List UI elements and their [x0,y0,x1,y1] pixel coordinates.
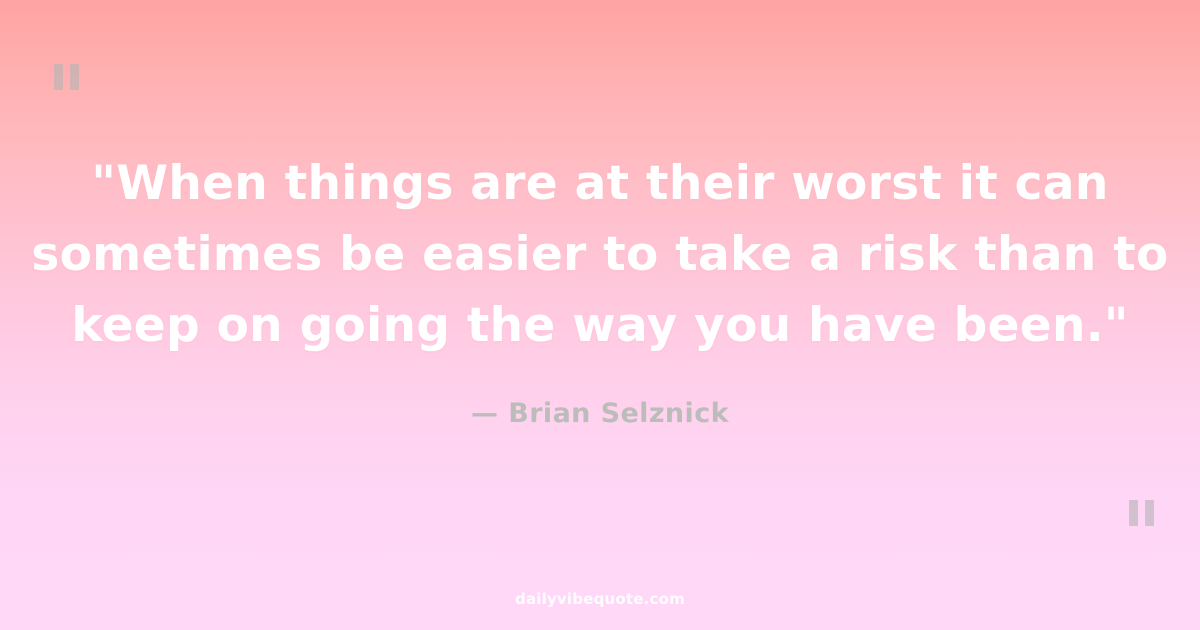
site-watermark: dailyvibequote.com [0,590,1200,608]
quote-mark-close-icon [1129,500,1154,526]
quote-mark-open-icon [54,64,79,90]
quote-author: — Brian Selznick [0,398,1200,429]
quote-mark-bar [1129,500,1138,526]
quote-text: "When things are at their worst it can s… [0,148,1200,361]
quote-mark-bar [70,64,79,90]
quote-mark-bar [1145,500,1154,526]
quote-mark-bar [54,64,63,90]
quote-card: "When things are at their worst it can s… [0,0,1200,630]
